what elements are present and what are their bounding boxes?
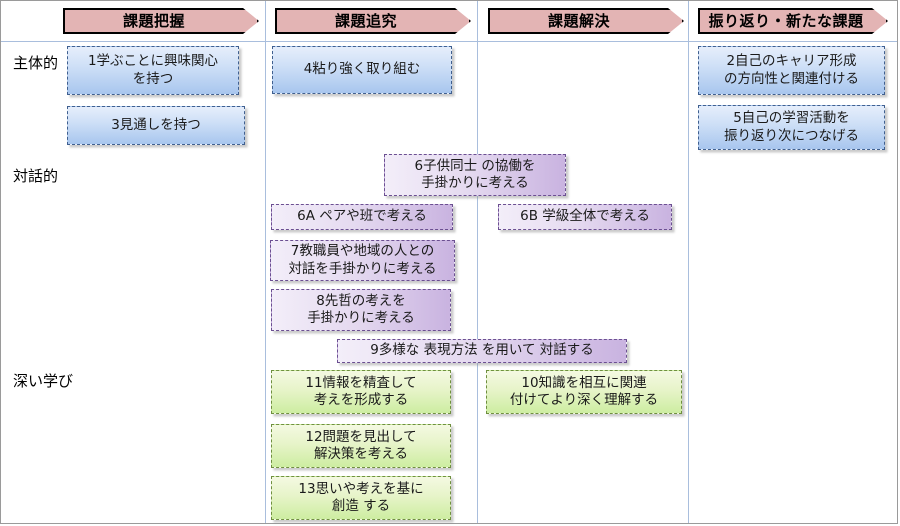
- row-label-taiwateki: 対話的: [13, 165, 58, 186]
- column-divider-2: [477, 1, 478, 523]
- node-7-kyoshokuin-chiiki[interactable]: 7教職員や地域の人との 対話を手掛かりに考える: [270, 240, 455, 281]
- phase-header-kadai-kaiketsu[interactable]: 課題解決: [488, 8, 684, 34]
- node-11-joho-seisa[interactable]: 11情報を精査して 考えを形成する: [271, 370, 451, 414]
- node-5-jiko-gakushu[interactable]: 5自己の学習活動を 振り返り次につなげる: [698, 105, 885, 150]
- phase-header-label: 課題解決: [548, 10, 610, 31]
- column-divider-3: [688, 1, 689, 523]
- node-6a-pair-han[interactable]: 6A ペアや班で考える: [271, 204, 453, 230]
- node-12-mondai-miidashi[interactable]: 12問題を見出して 解決策を考える: [271, 424, 451, 468]
- diagram-frame: 課題把握 課題追究 課題解決 振り返り・新たな課題 主体的 対話的 深い学び 1…: [0, 0, 898, 524]
- node-4-nebarizuyoku[interactable]: 4粘り強く取り組む: [272, 46, 452, 94]
- node-6-kyodo[interactable]: 6子供同士 の協働を 手掛かりに考える: [384, 154, 566, 196]
- node-13-omoi-kangae[interactable]: 13思いや考えを基に 創造 する: [271, 476, 451, 520]
- node-9-tayo-hyogen[interactable]: 9多様な 表現方法 を用いて 対話する: [337, 339, 627, 363]
- phase-header-label: 振り返り・新たな課題: [708, 10, 863, 31]
- phase-header-furikaeri[interactable]: 振り返り・新たな課題: [698, 8, 888, 34]
- column-divider-1: [265, 1, 266, 523]
- row-label-shutaiteki: 主体的: [13, 52, 58, 73]
- node-6b-gakkyu-zentai[interactable]: 6B 学級全体で考える: [498, 204, 672, 230]
- phase-header-label: 課題把握: [123, 10, 185, 31]
- node-10-chishiki-kanren[interactable]: 10知識を相互に関連 付けてより深く理解する: [486, 370, 682, 414]
- node-1-kyomi-kanshin[interactable]: 1学ぶことに興味関心 を持つ: [67, 46, 239, 95]
- phase-header-kadai-haaku[interactable]: 課題把握: [63, 8, 259, 34]
- node-3-mitooshi[interactable]: 3見通しを持つ: [67, 106, 245, 145]
- phase-header-label: 課題追究: [335, 10, 397, 31]
- node-8-sentetsu[interactable]: 8先哲の考えを 手掛かりに考える: [271, 289, 451, 331]
- phase-header-kadai-tsuikyu[interactable]: 課題追究: [275, 8, 471, 34]
- node-2-career-keisei[interactable]: 2自己のキャリア形成 の方向性と関連付ける: [698, 46, 885, 95]
- header-divider-line: [1, 41, 897, 42]
- row-label-fukaimanabi: 深い学び: [13, 370, 73, 391]
